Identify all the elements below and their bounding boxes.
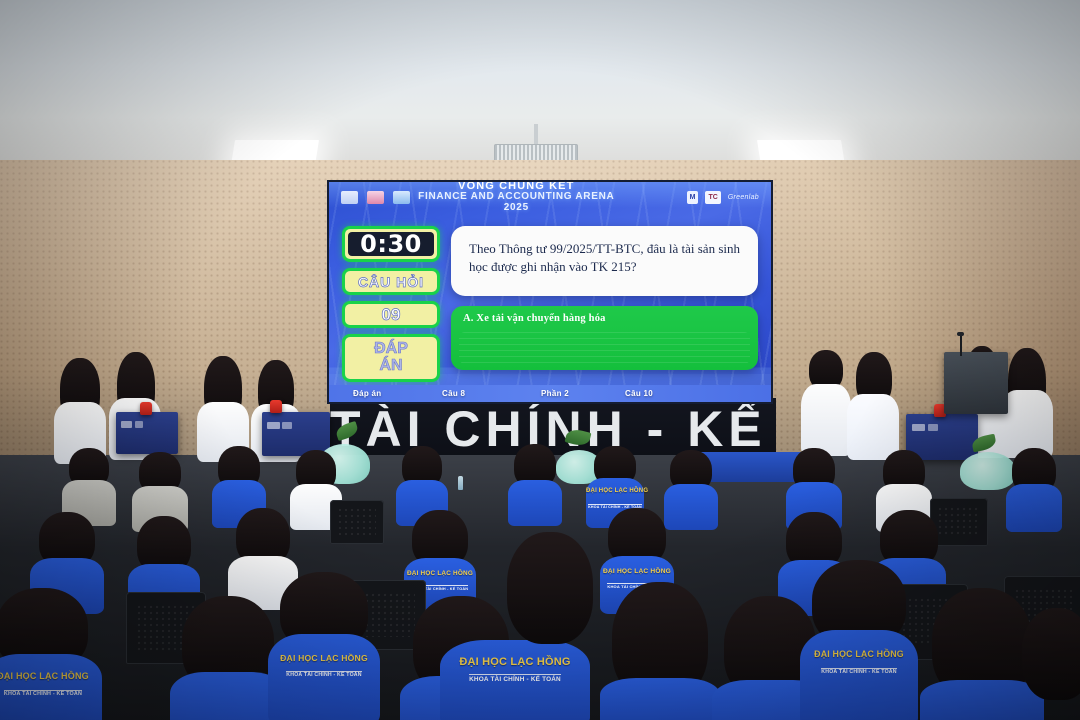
footer-item-cau-10[interactable]: Câu 10 <box>625 389 653 398</box>
shirt-line1: ĐẠI HỌC LẠC HỒNG <box>0 672 102 682</box>
shirt-line1: ĐẠI HỌC LẠC HỒNG <box>586 488 644 495</box>
shirt-line1: ĐẠI HỌC LẠC HỒNG <box>600 568 674 575</box>
buzzer-button[interactable] <box>140 402 152 415</box>
slide-background: VÒNG CHUNG KẾT FINANCE AND ACCOUNTING AR… <box>329 182 771 402</box>
led-presentation-screen[interactable]: VÒNG CHUNG KẾT FINANCE AND ACCOUNTING AR… <box>327 180 773 404</box>
footer-item-phan-2[interactable]: Phần 2 <box>541 389 569 398</box>
event-title-line2: FINANCE AND ACCOUNTING ARENA 2025 <box>410 192 623 212</box>
auditorium-scene: TÀI CHÍNH - KẾ TOÁN VÒNG CHUNG KẾT FINAN… <box>0 0 1080 720</box>
contestant <box>846 352 900 458</box>
shirt-line2: KHOA TÀI CHÍNH - KẾ TOÁN <box>286 671 361 679</box>
shirt-line2: KHOA TÀI CHÍNH - KẾ TOÁN <box>4 690 82 698</box>
shirt-line2: KHOA TÀI CHÍNH - KẾ TOÁN <box>469 674 561 683</box>
hair <box>507 532 593 644</box>
answer-option-a: A. Xe tải vận chuyển hàng hóa <box>463 313 746 324</box>
contestant <box>800 350 852 458</box>
shirt-branding: ĐẠI HỌC LẠC HỒNG KHOA TÀI CHÍNH - KẾ TOÁ… <box>800 650 918 677</box>
audience-member: ĐẠI HỌC LẠC HỒNG KHOA TÀI CHÍNH - KẾ TOÁ… <box>800 560 918 720</box>
quiz-control-column: 0:30 CÂU HỎI 09 ĐÁP ÁN <box>342 226 440 388</box>
audience-member <box>1016 608 1080 720</box>
question-label-box: CÂU HỎI <box>342 268 440 295</box>
water-bottle <box>458 476 463 490</box>
hair <box>1022 608 1080 700</box>
shirt-line1: ĐẠI HỌC LẠC HỒNG <box>404 570 476 577</box>
audience-member: ĐẠI HỌC LẠC HỒNG KHOA TÀI CHÍNH - KẾ TOÁ… <box>0 588 102 720</box>
event-title-block: VÒNG CHUNG KẾT FINANCE AND ACCOUNTING AR… <box>410 181 687 213</box>
answer-label-box[interactable]: ĐÁP ÁN <box>342 334 440 382</box>
footer-item-cau-8[interactable]: Câu 8 <box>442 389 465 398</box>
partner-logo <box>393 191 410 204</box>
header-right-logos: M TC Greenlab <box>687 191 759 204</box>
question-text: Theo Thông tư 99/2025/TT-BTC, đâu là tài… <box>469 240 740 277</box>
timer-display: 0:30 <box>348 232 434 256</box>
blue-tshirt: ĐẠI HỌC LẠC HỒNG KHOA TÀI CHÍNH - KẾ TOÁ… <box>0 654 102 720</box>
blue-tshirt <box>1006 484 1062 532</box>
countdown-timer: 0:30 <box>342 226 440 262</box>
question-number-box: 09 <box>342 301 440 328</box>
microphone-stem <box>960 336 962 356</box>
lac-hong-university-logo <box>341 191 358 204</box>
blue-tshirt <box>508 480 562 526</box>
ceiling-vent-stem <box>534 124 538 144</box>
lectern-podium <box>944 352 1008 414</box>
blue-tshirt: ĐẠI HỌC LẠC HỒNG KHOA TÀI CHÍNH - KẾ TOÁ… <box>268 634 380 720</box>
shirt-line1: ĐẠI HỌC LẠC HỒNG <box>268 654 380 663</box>
question-number: 09 <box>382 305 401 325</box>
timer-value: 0:30 <box>360 230 422 258</box>
answer-label-line2: ÁN <box>379 358 402 375</box>
answer-card[interactable]: A. Xe tải vận chuyển hàng hóa <box>451 306 758 370</box>
buzzer-button[interactable] <box>270 400 282 413</box>
header-left-logos <box>341 191 410 204</box>
question-label: CÂU HỎI <box>358 274 424 290</box>
contestant-desk <box>116 412 178 454</box>
ceiling <box>0 0 1080 168</box>
shirt-line2: KHOA TÀI CHÍNH - KẾ TOÁN <box>821 668 896 676</box>
contestant <box>1000 348 1054 458</box>
faculty-emblem-logo <box>367 191 384 204</box>
answer-label-line1: ĐÁP <box>374 341 408 358</box>
contestant <box>196 356 250 460</box>
shirt-branding: ĐẠI HỌC LẠC HỒNG KHOA TÀI CHÍNH - KẾ TOÁ… <box>268 654 380 681</box>
audience-member <box>1006 448 1062 528</box>
slide-footer-bar: Đáp án Câu 8 Phần 2 Câu 10 <box>329 385 771 402</box>
question-card: Theo Thông tư 99/2025/TT-BTC, đâu là tài… <box>451 226 758 296</box>
sponsor-logo-tc: TC <box>705 191 720 204</box>
microphone-icon <box>957 332 964 336</box>
sponsor-logo-m: M <box>687 191 699 204</box>
audience-member <box>600 582 720 720</box>
blue-tshirt: ĐẠI HỌC LẠC HỒNG KHOA TÀI CHÍNH - KẾ TOÁ… <box>800 630 918 720</box>
auditorium-chair <box>330 500 384 544</box>
blue-tshirt <box>600 678 720 720</box>
shirt-line1: ĐẠI HỌC LẠC HỒNG <box>800 650 918 660</box>
white-polo-shirt <box>801 384 851 456</box>
audience-member <box>496 532 604 662</box>
slide-header: VÒNG CHUNG KẾT FINANCE AND ACCOUNTING AR… <box>329 184 771 210</box>
contestant <box>52 358 108 460</box>
footer-item-dap-an[interactable]: Đáp án <box>353 389 381 398</box>
shirt-branding: ĐẠI HỌC LẠC HỒNG KHOA TÀI CHÍNH - KẾ TOÁ… <box>0 672 102 699</box>
audience-member <box>508 444 562 522</box>
audience-member: ĐẠI HỌC LẠC HỒNG KHOA TÀI CHÍNH - KẾ TOÁ… <box>268 572 380 720</box>
sponsor-wordmark: Greenlab <box>728 194 759 201</box>
